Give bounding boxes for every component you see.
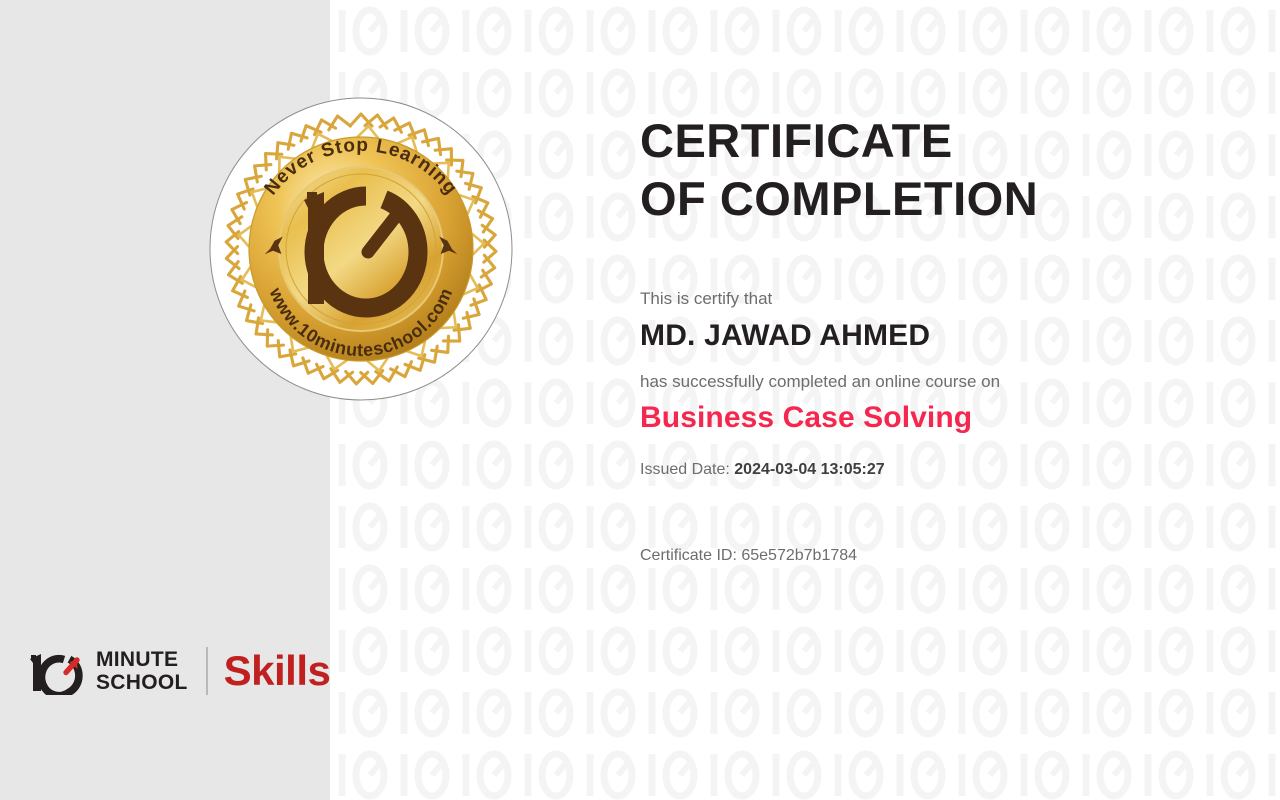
certificate-body: This is certify that MD. JAWAD AHMED has…	[640, 286, 1240, 569]
certificate-id: Certificate ID: 65e572b7b1784	[640, 543, 1240, 569]
course-name: Business Case Solving	[640, 397, 1240, 439]
course-lead-text: has successfully completed an online cou…	[640, 369, 1240, 395]
brand-divider	[206, 647, 208, 695]
recipient-name: MD. JAWAD AHMED	[640, 315, 1240, 357]
award-seal: Never Stop Learning www.10minuteschool.c…	[208, 96, 514, 402]
certificate-content: CERTIFICATE OF COMPLETION This is certif…	[640, 112, 1240, 569]
brand-logo: MINUTE SCHOOL Skills	[28, 643, 330, 699]
certificate-page: Never Stop Learning www.10minuteschool.c…	[0, 0, 1280, 800]
issued-date-value: 2024-03-04 13:05:27	[734, 461, 884, 478]
brand-wordmark: MINUTE SCHOOL	[96, 648, 188, 694]
lead-text: This is certify that	[640, 286, 1240, 312]
issued-date-label: Issued Date:	[640, 461, 730, 478]
brand-word-school: SCHOOL	[96, 671, 188, 694]
brand-product-skills: Skills	[224, 649, 331, 693]
certificate-title-line-2: OF COMPLETION	[640, 170, 1240, 228]
issued-date-row: Issued Date: 2024-03-04 13:05:27	[640, 457, 1240, 483]
certificate-title-line-1: CERTIFICATE	[640, 112, 1240, 170]
ten-minute-school-clock-icon	[28, 647, 90, 695]
brand-word-minute: MINUTE	[96, 648, 188, 671]
